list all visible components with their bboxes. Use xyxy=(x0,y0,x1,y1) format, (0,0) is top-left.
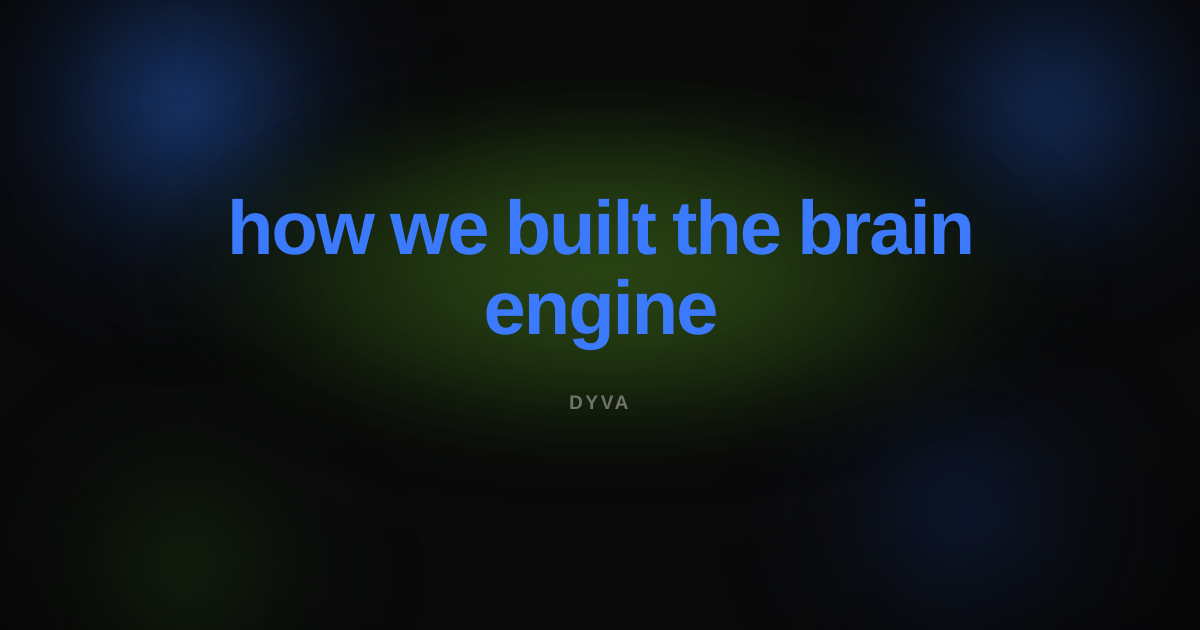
og-card: how we built the brain engine DYVA xyxy=(0,0,1200,630)
page-title: how we built the brain engine xyxy=(220,189,980,349)
brand-subtitle: DYVA xyxy=(569,393,631,415)
hero-content: how we built the brain engine DYVA xyxy=(0,0,1200,630)
